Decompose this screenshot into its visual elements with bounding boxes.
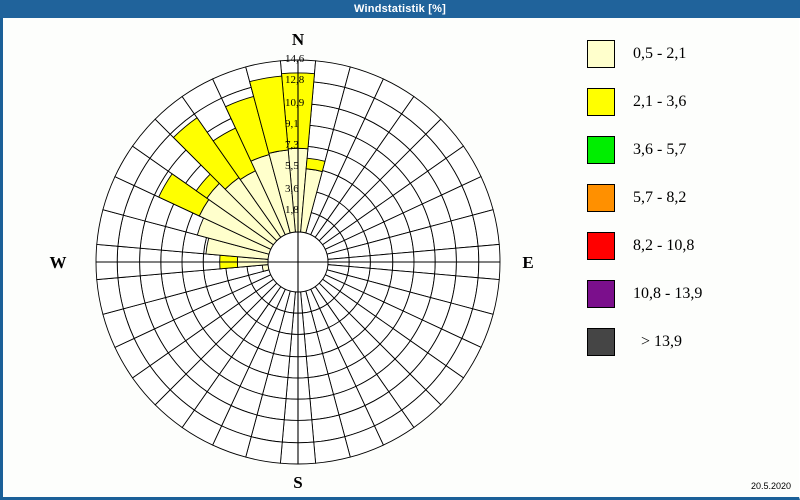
- wind-rose-window: Windstatistik [%] N S W E 1,83,65,57,39,…: [0, 0, 800, 500]
- legend-item[interactable]: 8,2 - 10,8: [583, 222, 798, 270]
- legend-label: 2,1 - 3,6: [633, 93, 686, 111]
- compass-label-west: W: [38, 253, 78, 273]
- legend-item[interactable]: > 13,9: [583, 318, 798, 366]
- legend-swatch: [587, 232, 615, 260]
- legend-label: > 13,9: [641, 333, 682, 351]
- window-title: Windstatistik [%]: [354, 3, 446, 15]
- radial-tick-label: 1,8: [285, 204, 299, 216]
- legend-item[interactable]: 2,1 - 3,6: [583, 78, 798, 126]
- legend-item[interactable]: 0,5 - 2,1: [583, 30, 798, 78]
- legend-label: 10,8 - 13,9: [633, 285, 702, 303]
- wind-rose-chart: N S W E 1,83,65,57,39,110,912,814,6: [3, 18, 563, 497]
- legend-swatch: [587, 328, 615, 356]
- wind-rose-svg: [3, 18, 563, 497]
- radial-tick-label: 9,1: [285, 118, 299, 130]
- radial-tick-label: 3,6: [285, 183, 299, 195]
- legend-item[interactable]: 3,6 - 5,7: [583, 126, 798, 174]
- radial-tick-label: 14,6: [285, 53, 304, 65]
- legend-item[interactable]: 10,8 - 13,9: [583, 270, 798, 318]
- legend: 0,5 - 2,12,1 - 3,63,6 - 5,75,7 - 8,28,2 …: [583, 30, 798, 366]
- legend-swatch: [587, 280, 615, 308]
- legend-swatch: [587, 88, 615, 116]
- legend-swatch: [587, 184, 615, 212]
- legend-swatch: [587, 136, 615, 164]
- window-titlebar: Windstatistik [%]: [0, 0, 800, 18]
- radial-tick-label: 7,3: [285, 139, 299, 151]
- compass-label-east: E: [508, 253, 548, 273]
- legend-label: 0,5 - 2,1: [633, 45, 686, 63]
- legend-item[interactable]: 5,7 - 8,2: [583, 174, 798, 222]
- compass-label-north: N: [278, 30, 318, 50]
- legend-label: 3,6 - 5,7: [633, 141, 686, 159]
- radial-tick-label: 5,5: [285, 160, 299, 172]
- date-stamp: 20.5.2020: [751, 481, 791, 491]
- compass-label-south: S: [278, 473, 318, 493]
- radial-tick-label: 12,8: [285, 74, 304, 86]
- legend-label: 5,7 - 8,2: [633, 189, 686, 207]
- legend-swatch: [587, 40, 615, 68]
- radial-tick-label: 10,9: [285, 97, 304, 109]
- legend-label: 8,2 - 10,8: [633, 237, 694, 255]
